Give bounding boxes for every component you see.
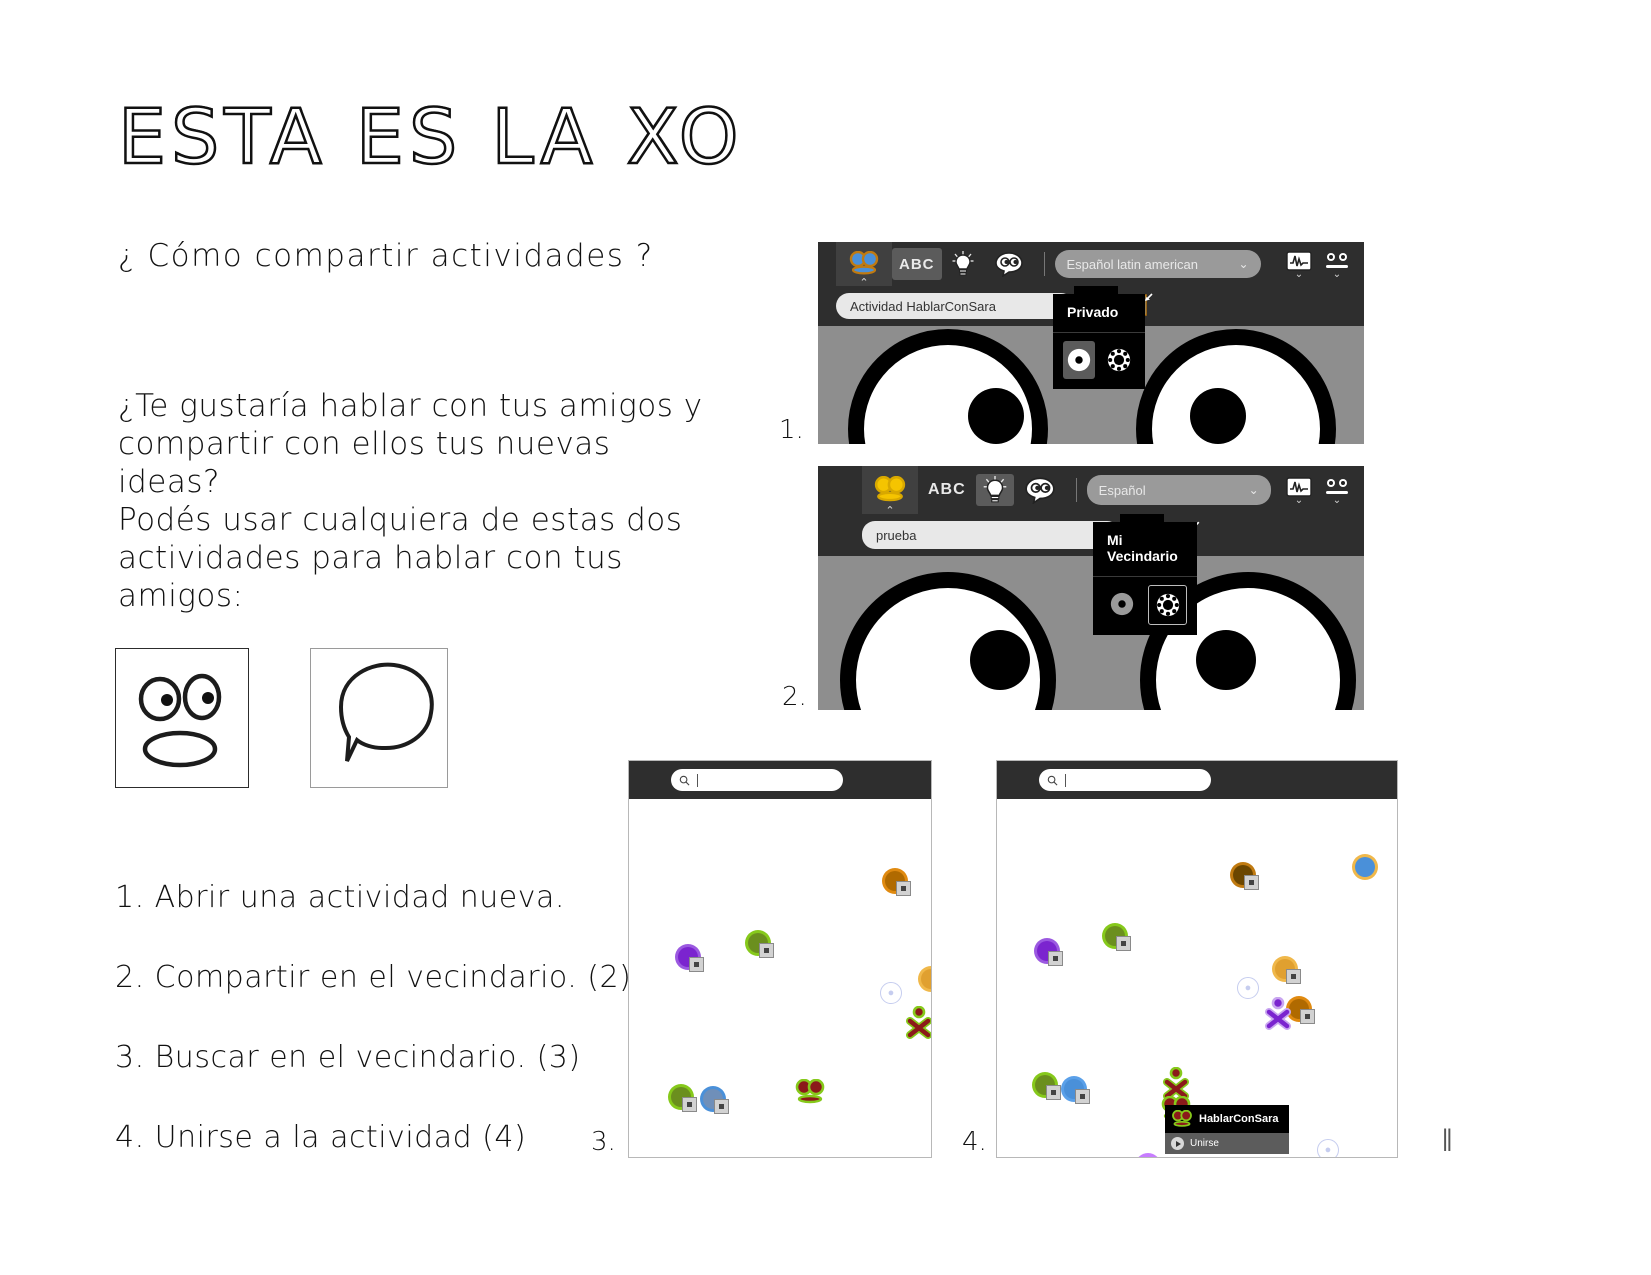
search-input[interactable]	[671, 769, 843, 791]
face-button[interactable]: ⌄	[1322, 477, 1352, 504]
chevron-down-icon: ⌄	[1333, 271, 1341, 278]
chevron-down-icon: ⌄	[1333, 497, 1341, 504]
neighborhood-toolbar	[997, 761, 1397, 799]
page-title: ESTA ES LA XO	[118, 92, 744, 181]
speak-button[interactable]	[984, 242, 1034, 286]
screenshot-neighborhood-join: ● ● HablarConSara	[996, 760, 1398, 1158]
buddy-dot[interactable]	[1037, 941, 1057, 961]
list-item: 1. Abrir una actividad nueva.	[115, 880, 675, 915]
panel-label-3: 3.	[591, 1127, 616, 1157]
waveform-icon	[1286, 477, 1312, 497]
waveform-button[interactable]: ⌄	[1286, 477, 1312, 504]
edge-mark: ||	[1442, 1125, 1450, 1153]
play-icon	[1171, 1137, 1184, 1150]
ghost-buddy-icon[interactable]: ●	[1237, 977, 1259, 999]
neighborhood-ring-icon	[1106, 347, 1132, 373]
lock-badge-icon	[759, 943, 774, 958]
xo-person[interactable]	[1265, 997, 1291, 1031]
toolbar-spacer	[818, 466, 862, 514]
lightbulb-icon	[952, 251, 974, 277]
lightbulb-button[interactable]	[976, 474, 1014, 506]
buddy-dot[interactable]	[1105, 926, 1125, 946]
toolbar-separator	[1044, 252, 1045, 276]
speech-bubble-drawing	[310, 648, 448, 788]
activity-tab[interactable]: ⌃	[836, 242, 892, 286]
buddy-dot[interactable]	[1355, 857, 1375, 877]
sugar-toolbar: ⌃ ABC	[818, 466, 1364, 514]
buddy-dot[interactable]	[671, 1087, 691, 1107]
lock-badge-icon	[689, 957, 704, 972]
option-neighborhood[interactable]	[1148, 585, 1187, 625]
buddy-dot[interactable]	[678, 947, 698, 967]
lock-badge-icon	[1075, 1089, 1090, 1104]
panel-label-2: 2.	[782, 682, 807, 712]
intro-paragraph-2: Podés usar cualquiera de estas dos activ…	[118, 502, 718, 615]
toolbar-separator	[1076, 478, 1077, 502]
lock-badge-icon	[1300, 1009, 1315, 1024]
activity-name-value: Actividad HablarConSara	[850, 299, 996, 314]
lock-badge-icon	[1048, 951, 1063, 966]
neighborhood-canvas[interactable]: ● ● HablarConSara	[997, 799, 1397, 1158]
lock-badge-icon	[682, 1097, 697, 1112]
intro-paragraph-1: ¿Te gustaría hablar con tus amigos y com…	[118, 388, 718, 501]
activity-name-value: prueba	[876, 528, 916, 543]
xo-face-icon	[1322, 477, 1352, 497]
language-select[interactable]: Español ⌄	[1087, 475, 1271, 505]
waveform-button[interactable]: ⌄	[1286, 251, 1312, 278]
speech-face-icon	[1024, 476, 1056, 504]
sharing-dropdown[interactable]: Privado	[1053, 294, 1145, 389]
ghost-buddy-icon[interactable]: ●	[880, 982, 902, 1004]
lock-badge-icon	[714, 1099, 729, 1114]
chevron-down-icon: ⌄	[1238, 257, 1248, 271]
xo-face-sketch-icon	[116, 649, 248, 787]
buddy-dot[interactable]	[1233, 865, 1253, 885]
search-icon	[679, 775, 690, 786]
lightbulb-button[interactable]	[942, 242, 984, 286]
screenshot-activity-private: ⌃ ABC	[818, 242, 1364, 444]
list-item: 3. Buscar en el vecindario. (3)	[115, 1040, 675, 1075]
abc-button[interactable]: ABC	[918, 466, 976, 514]
join-button[interactable]: Unirse	[1165, 1133, 1289, 1154]
language-value: Español	[1099, 483, 1146, 498]
speak-button[interactable]	[1014, 466, 1066, 514]
language-select[interactable]: Español latin american ⌄	[1055, 250, 1261, 278]
sharing-options	[1053, 332, 1145, 389]
lock-badge-icon	[896, 881, 911, 896]
text-cursor	[1065, 774, 1066, 787]
lock-badge-icon	[1116, 936, 1131, 951]
chat-activity-icon[interactable]	[795, 1079, 825, 1105]
option-private[interactable]	[1103, 585, 1140, 623]
option-neighborhood[interactable]	[1103, 341, 1135, 379]
toolbar-right-group: ⌄ ⌄	[1286, 477, 1364, 504]
chat-activity-icon	[1171, 1110, 1193, 1128]
abc-label: ABC	[899, 256, 935, 273]
chevron-down-icon: ⌄	[1295, 271, 1303, 278]
xo-face-background	[818, 550, 1364, 710]
private-dot-icon	[1109, 591, 1135, 617]
buddy-dot[interactable]	[1035, 1075, 1055, 1095]
list-item: 2. Compartir en el vecindario. (2)	[115, 960, 675, 995]
abc-button[interactable]: ABC	[892, 248, 942, 280]
private-dot-icon	[1066, 347, 1092, 373]
popup-title-row: HablarConSara	[1165, 1105, 1289, 1133]
screenshot-neighborhood-search: ●	[628, 760, 932, 1158]
option-private[interactable]	[1063, 341, 1095, 379]
lock-badge-icon	[1286, 969, 1301, 984]
neighborhood-toolbar	[629, 761, 931, 799]
activity-name-field[interactable]: prueba	[862, 521, 1120, 549]
activity-name-field[interactable]: Actividad HablarConSara	[836, 293, 1074, 319]
ghost-buddy-icon[interactable]: ●	[1317, 1139, 1339, 1158]
join-activity-popup[interactable]: HablarConSara Unirse	[1165, 1105, 1289, 1154]
xo-activity-icon-yellow	[874, 476, 906, 504]
buddy-dot[interactable]	[1064, 1079, 1084, 1099]
buddy-dot[interactable]	[1139, 1157, 1157, 1158]
sharing-dropdown-label: Privado	[1053, 294, 1145, 332]
search-input[interactable]	[1039, 769, 1211, 791]
toolbar-spacer	[818, 242, 836, 286]
buddy-dot[interactable]	[1275, 959, 1295, 979]
buddy-dot[interactable]	[921, 969, 932, 989]
speech-face-icon	[994, 251, 1024, 277]
chevron-down-icon: ⌄	[1249, 483, 1259, 497]
xo-face-drawing	[115, 648, 249, 788]
abc-label: ABC	[928, 481, 966, 499]
activity-tab[interactable]: ⌃	[862, 466, 918, 514]
sharing-options	[1093, 576, 1197, 635]
buddy-dot[interactable]	[1289, 999, 1309, 1019]
join-button-label: Unirse	[1190, 1138, 1219, 1149]
face-button[interactable]: ⌄	[1322, 251, 1352, 278]
xo-activity-icon	[849, 251, 879, 277]
waveform-icon	[1286, 251, 1312, 271]
language-value: Español latin american	[1067, 257, 1199, 272]
screenshot-activity-neighborhood: ⌃ ABC	[818, 466, 1364, 710]
xo-person[interactable]	[906, 1006, 932, 1040]
lock-badge-icon	[1046, 1085, 1061, 1100]
xo-face-icon	[1322, 251, 1352, 271]
buddy-dot[interactable]	[885, 871, 905, 891]
toolbar-right-group: ⌄ ⌄	[1286, 251, 1364, 278]
panel-label-4: 4.	[962, 1127, 987, 1157]
chevron-down-icon: ⌄	[1295, 497, 1303, 504]
popup-activity-name: HablarConSara	[1199, 1113, 1278, 1125]
lock-badge-icon	[1244, 875, 1259, 890]
neighborhood-ring-icon	[1155, 592, 1181, 618]
sharing-dropdown[interactable]: Mi Vecindario	[1093, 522, 1197, 635]
subtitle: ¿ Cómo compartir actividades ?	[118, 238, 654, 274]
panel-label-1: 1.	[779, 415, 804, 445]
buddy-dot[interactable]	[703, 1089, 723, 1109]
buddy-dot[interactable]	[748, 933, 768, 953]
speech-bubble-sketch-icon	[311, 649, 447, 787]
lightbulb-icon	[983, 476, 1007, 504]
sharing-dropdown-label: Mi Vecindario	[1093, 522, 1197, 576]
text-cursor	[697, 774, 698, 787]
neighborhood-canvas[interactable]: ●	[629, 799, 931, 1158]
sugar-toolbar: ⌃ ABC	[818, 242, 1364, 286]
search-icon	[1047, 775, 1058, 786]
